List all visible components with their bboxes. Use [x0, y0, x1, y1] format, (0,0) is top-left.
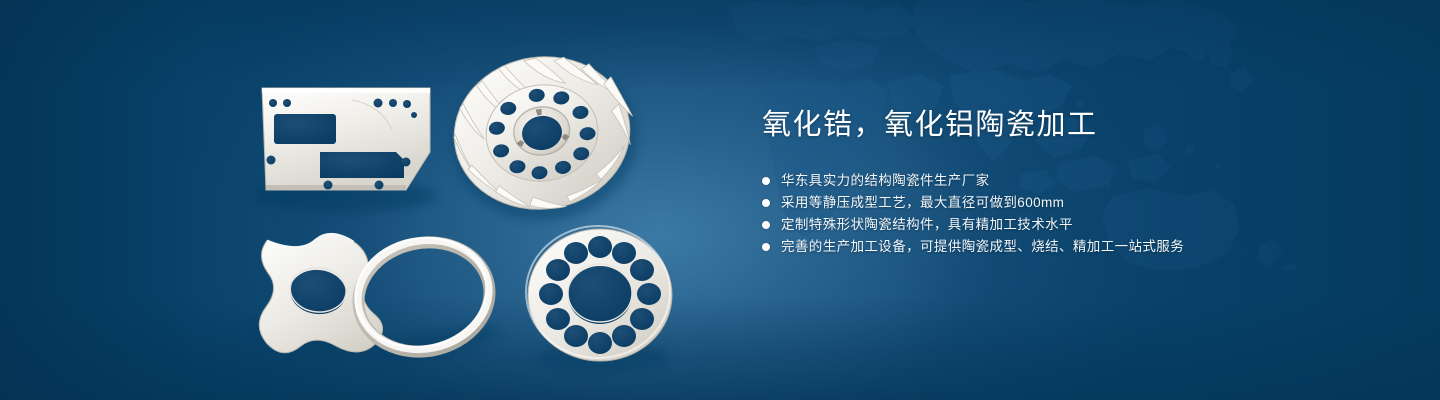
- feature-text: 完善的生产加工设备，可提供陶瓷成型、烧结、精加工一站式服务: [781, 236, 1184, 258]
- ceramic-cross-image: [251, 226, 392, 362]
- bullet-dot-icon: [762, 177, 770, 185]
- ceramic-perforated-disc-image: [526, 226, 672, 371]
- bullet-dot-icon: [762, 243, 770, 251]
- list-item: 华东具实力的结构陶瓷件生产厂家: [762, 170, 1402, 192]
- bullet-dot-icon: [762, 221, 770, 229]
- banner-text-block: 氧化锆，氧化铝陶瓷加工 华东具实力的结构陶瓷件生产厂家 采用等静压成型工艺，最大…: [762, 108, 1402, 258]
- product-image-group: [0, 0, 740, 400]
- list-item: 定制特殊形状陶瓷结构件，具有精加工技术水平: [762, 214, 1402, 236]
- list-item: 采用等静压成型工艺，最大直径可做到600mm: [762, 192, 1402, 214]
- ceramic-plate-image: [253, 88, 437, 212]
- hero-banner: 氧化锆，氧化铝陶瓷加工 华东具实力的结构陶瓷件生产厂家 采用等静压成型工艺，最大…: [0, 0, 1440, 400]
- feature-text: 采用等静压成型工艺，最大直径可做到600mm: [781, 192, 1064, 214]
- feature-text: 华东具实力的结构陶瓷件生产厂家: [781, 170, 990, 192]
- feature-text: 定制特殊形状陶瓷结构件，具有精加工技术水平: [781, 214, 1073, 236]
- bullet-dot-icon: [762, 199, 770, 207]
- banner-feature-list: 华东具实力的结构陶瓷件生产厂家 采用等静压成型工艺，最大直径可做到600mm 定…: [762, 170, 1402, 258]
- banner-headline: 氧化锆，氧化铝陶瓷加工: [762, 108, 1402, 142]
- list-item: 完善的生产加工设备，可提供陶瓷成型、烧结、精加工一站式服务: [762, 236, 1402, 258]
- ceramic-impeller-image: [442, 45, 647, 233]
